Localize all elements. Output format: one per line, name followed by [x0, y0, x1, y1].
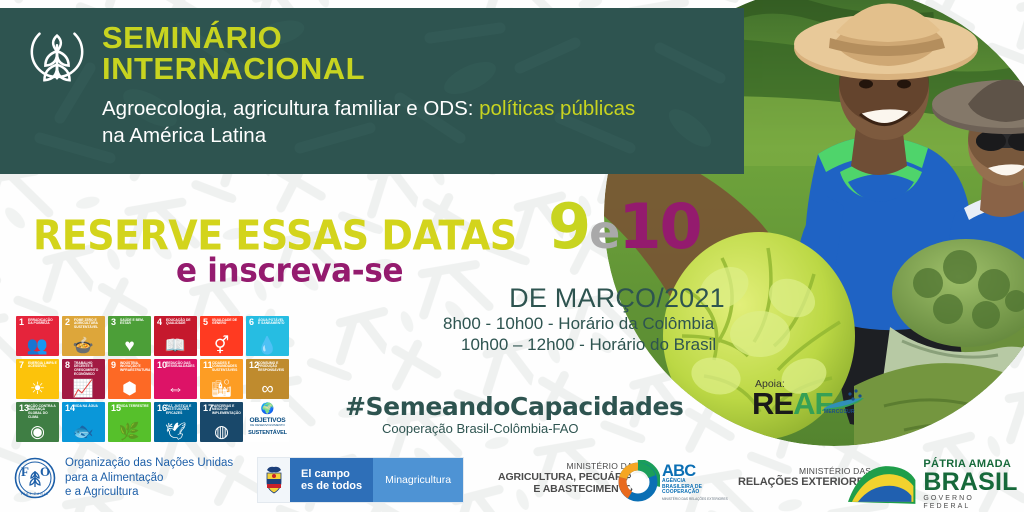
colombia-slogan-line-1: El campo [301, 468, 362, 481]
abc-acronym: ABC [662, 463, 728, 479]
event-month-year: DE MARÇO/2021 [497, 283, 737, 313]
sdg-glyph-icon: 🍲 [62, 337, 105, 354]
sdg-glyph-icon: 📈 [62, 380, 105, 397]
sdg-glyph-icon: 💧 [246, 337, 289, 354]
sdg-title: CIDADES E COMUNIDADES SUSTENTÁVEIS [212, 362, 241, 374]
sdg-glyph-icon: ♥ [108, 337, 151, 354]
sdg-goal: 3 SAÚDE E BEM-ESTAR ♥ [108, 316, 151, 356]
brazil-government-logo-block: PÁTRIA AMADA BRASIL GOVERNO FEDERAL [846, 458, 1024, 511]
sdg-glyph-icon: 👥 [16, 337, 59, 354]
title-line-2: INTERNACIONAL [102, 53, 635, 84]
mapa-line-3: E ABASTECIMENTO [498, 483, 633, 495]
photo-credit: Foto: www.mds.gov.br [947, 0, 1024, 2]
sdg-goal: 12 CONSUMO E PRODUÇÃO RESPONSÁVEIS ∞ [246, 359, 289, 399]
date-day-second: 10 [618, 190, 700, 263]
campaign-hashtag: #SemeandoCapacidades [345, 394, 684, 419]
sdg-goal: 14 VIDA NA ÁGUA 🐟 [62, 402, 105, 442]
sdg-title: VIDA TERRESTRE [120, 405, 149, 409]
subtitle-line-2: na América Latina [102, 124, 266, 147]
sdg-glyph-icon: ☀ [16, 380, 59, 397]
title-block: SEMINÁRIO INTERNACIONAL Agroecologia, ag… [102, 22, 635, 149]
sdg-goal: 7 ENERGIA LIMPA E ACESSÍVEL ☀ [16, 359, 59, 399]
footer-logo-bar: F O FIAT PANIS Organização das Nações Un… [0, 452, 1024, 512]
sdg-glyph-icon: 🐟 [62, 423, 105, 440]
sdg-number: 6 [249, 318, 254, 327]
fao-name: Organização das Nações Unidas para a Ali… [65, 456, 233, 500]
event-poster: Foto: www.mds.gov.br [0, 0, 1024, 512]
sdg-number: 4 [157, 318, 162, 327]
sdg-goal: 13 AÇÃO CONTRA A MUDANÇA GLOBAL DO CLIMA… [16, 402, 59, 442]
colombia-slogan: El campo es de todos [290, 458, 373, 502]
sdg-title: ENERGIA LIMPA E ACESSÍVEL [28, 362, 57, 370]
sdg-goal: 10 REDUÇÃO DAS DESIGUALDADES ⇔ [154, 359, 197, 399]
subtitle-plain: Agroecologia, agricultura familiar e ODS… [102, 97, 479, 120]
svg-text:F: F [21, 464, 29, 479]
sdg-number: 9 [111, 361, 116, 370]
sdg-goal: 6 ÁGUA POTÁVEL E SANEAMENTO 💧 [246, 316, 289, 356]
sdg-goal: 11 CIDADES E COMUNIDADES SUSTENTÁVEIS 🏙 [200, 359, 243, 399]
sdg-goal: 2 FOME ZERO E AGRICULTURA SUSTENTÁVEL 🍲 [62, 316, 105, 356]
sdg-number: 1 [19, 318, 24, 327]
sdg-glyph-icon: ◉ [16, 423, 59, 440]
cooperation-line: Cooperação Brasil-Colômbia-FAO [382, 421, 579, 436]
sdg-goal: 1 ERRADICAÇÃO DA POBREZA 👥 [16, 316, 59, 356]
mapa-line-2: AGRICULTURA, PECUÁRIA [498, 471, 633, 483]
sdg-goal: 8 TRABALHO DECENTE E CRESCIMENTO ECONÔMI… [62, 359, 105, 399]
sdg-title: ERRADICAÇÃO DA POBREZA [28, 319, 57, 327]
sdg-title: AÇÃO CONTRA A MUDANÇA GLOBAL DO CLIMA [28, 405, 57, 421]
event-time-brazil: 10h00 – 12h00 - Horário do Brasil [461, 334, 716, 356]
sdg-number: 3 [111, 318, 116, 327]
sdg-glyph-icon: ⇔ [154, 380, 197, 397]
sdg-glyph-icon: ◍ [200, 423, 243, 440]
sdg-glyph-icon: 🕊 [154, 423, 197, 440]
sdg-number: 5 [203, 318, 208, 327]
sdg-title: VIDA NA ÁGUA [74, 405, 103, 409]
sdg-glyph-icon: ⚥ [200, 337, 243, 354]
title-line-1: SEMINÁRIO [102, 20, 282, 55]
sdg-title: PARCERIAS E MEIOS DE IMPLEMENTAÇÃO [212, 405, 241, 417]
sdg-glyph-icon: 🌿 [108, 423, 151, 440]
abc-text-block: ABC AGÊNCIA BRASILEIRA DE COOPERAÇÃO MIN… [662, 463, 728, 501]
mapa-line-1: MINISTÉRIO DA [498, 461, 633, 471]
sdg-title: PAZ, JUSTIÇA E INSTITUIÇÕES EFICAZES [166, 405, 195, 417]
fao-line-2: para a Alimentação [65, 471, 233, 486]
abc-ring-icon [616, 460, 660, 504]
sdg-badge: 🌍 OBJETIVOS DE DESENVOLVIMENTO SUSTENTÁV… [246, 402, 289, 442]
colombia-slogan-line-2: es de todos [301, 480, 362, 493]
mercosur-label: MERCOSUR [824, 409, 855, 415]
reserve-dates-headline: RESERVE ESSAS DATAS [33, 215, 517, 256]
sdg-goal: 4 EDUCAÇÃO DE QUALIDADE 📖 [154, 316, 197, 356]
sdg-title: SAÚDE E BEM-ESTAR [120, 319, 149, 327]
minagricultura-label: Minagricultura [373, 458, 463, 502]
sdg-badge-line-3: SUSTENTÁVEL [246, 430, 289, 436]
sdg-glyph-icon: 📖 [154, 337, 197, 354]
fao-line-3: e a Agricultura [65, 485, 233, 500]
brazil-flag-swoosh-icon [846, 462, 917, 508]
sdg-title: INDÚSTRIA, INOVAÇÃO E INFRAESTRUTURA [120, 362, 149, 374]
fao-logo-block: F O FIAT PANIS Organização das Nações Un… [14, 456, 233, 500]
sdg-title: TRABALHO DECENTE E CRESCIMENTO ECONÔMICO [74, 362, 103, 378]
sdg-goal: 17 PARCERIAS E MEIOS DE IMPLEMENTAÇÃO ◍ [200, 402, 243, 442]
subtitle-highlight: políticas públicas [479, 97, 635, 120]
seminar-subtitle: Agroecologia, agricultura familiar e ODS… [102, 95, 635, 149]
fao-line-1: Organização das Nações Unidas [65, 456, 233, 471]
sdg-glyph-icon: ⬢ [108, 380, 151, 397]
svg-text:O: O [40, 464, 50, 479]
wheat-circle-emblem-icon [26, 24, 88, 86]
event-time-colombia: 8h00 - 10h00 - Horário da Colômbia [443, 313, 714, 335]
sdg-badge-line-2: DE DESENVOLVIMENTO [246, 424, 289, 427]
colombia-logo-block: El campo es de todos Minagricultura [258, 458, 463, 502]
date-conjunction: e [589, 205, 618, 259]
sdg-goal: 16 PAZ, JUSTIÇA E INSTITUIÇÕES EFICAZES … [154, 402, 197, 442]
sdg-number: 7 [19, 361, 24, 370]
seminar-title: SEMINÁRIO INTERNACIONAL [102, 22, 635, 84]
sdg-title: ÁGUA POTÁVEL E SANEAMENTO [258, 319, 287, 327]
brazil-line-3: GOVERNO FEDERAL [923, 495, 1024, 511]
abc-line-3: COOPERAÇÃO [662, 490, 728, 495]
un-globe-icon: 🌍 [246, 404, 289, 415]
sdg-glyph-icon: ∞ [246, 380, 289, 397]
brazil-line-2: BRASIL [923, 470, 1024, 495]
sdg-number: 2 [65, 318, 70, 327]
sdg-goal: 15 VIDA TERRESTRE 🌿 [108, 402, 151, 442]
colombia-coat-of-arms-icon [258, 458, 290, 502]
brazil-text-block: PÁTRIA AMADA BRASIL GOVERNO FEDERAL [923, 458, 1024, 511]
sdg-number: 8 [65, 361, 70, 370]
sdg-title: EDUCAÇÃO DE QUALIDADE [166, 319, 195, 327]
abc-footnote: MINISTÉRIO DAS RELAÇÕES EXTERIORES [662, 497, 728, 501]
supporter-block: Apoia: REAF MERCOSUR [752, 378, 832, 419]
header-band: SEMINÁRIO INTERNACIONAL Agroecologia, ag… [0, 8, 744, 174]
date-day-first: 9 [548, 190, 589, 263]
sdg-glyph-icon: 🏙 [200, 380, 243, 397]
sdg-goal: 5 IGUALDADE DE GÊNERO ⚥ [200, 316, 243, 356]
svg-text:FIAT PANIS: FIAT PANIS [21, 492, 49, 496]
abc-logo-block: ABC AGÊNCIA BRASILEIRA DE COOPERAÇÃO MIN… [616, 460, 728, 504]
sdg-title: FOME ZERO E AGRICULTURA SUSTENTÁVEL [74, 319, 103, 331]
reaf-part-1: RE [752, 386, 793, 421]
event-date-big: 9e10 [548, 196, 701, 263]
sdg-title: REDUÇÃO DAS DESIGUALDADES [166, 362, 195, 370]
sdg-icon-grid: 1 ERRADICAÇÃO DA POBREZA 👥 2 FOME ZERO E… [16, 316, 289, 442]
mapa-ministry-block: MINISTÉRIO DA AGRICULTURA, PECUÁRIA E AB… [498, 461, 633, 495]
sdg-title: CONSUMO E PRODUÇÃO RESPONSÁVEIS [258, 362, 287, 374]
fao-logo-icon: F O FIAT PANIS [14, 457, 56, 499]
sdg-title: IGUALDADE DE GÊNERO [212, 319, 241, 327]
register-subheadline: e inscreva-se [176, 255, 403, 288]
sdg-goal: 9 INDÚSTRIA, INOVAÇÃO E INFRAESTRUTURA ⬢ [108, 359, 151, 399]
